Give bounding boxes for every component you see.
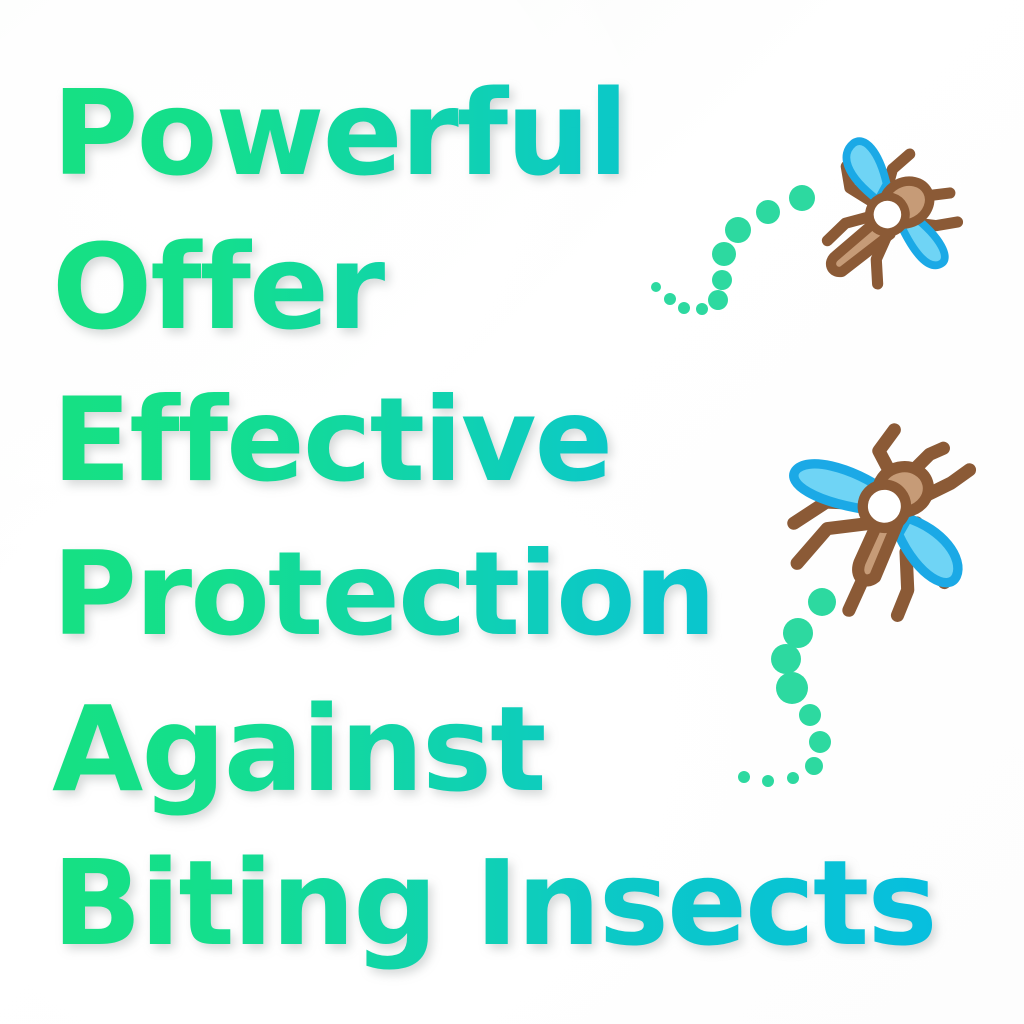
trail-dot [725,217,751,243]
trail-dot [664,293,676,305]
trail-dot [712,270,732,290]
poster-canvas: Powerful Offer Effective Protection Agai… [0,0,1024,1024]
trail-dot [771,644,801,674]
mosquito-head [861,483,908,530]
trail-dot [776,672,808,704]
trail-dot [738,771,750,783]
trail-dot [678,302,690,314]
trail-dot [712,242,736,266]
trail-dot [696,303,708,315]
trail-dot [809,731,831,753]
trail-dot [762,775,774,787]
trail-dot [787,772,799,784]
trail-dot [799,704,821,726]
trail-dot [805,757,823,775]
trail-dot [651,282,661,292]
mosquito-icon-lower [756,406,1012,632]
trail-dot [708,290,728,310]
mosquito-icon [756,406,1012,632]
headline-line-6: Biting Insects [52,826,1024,980]
